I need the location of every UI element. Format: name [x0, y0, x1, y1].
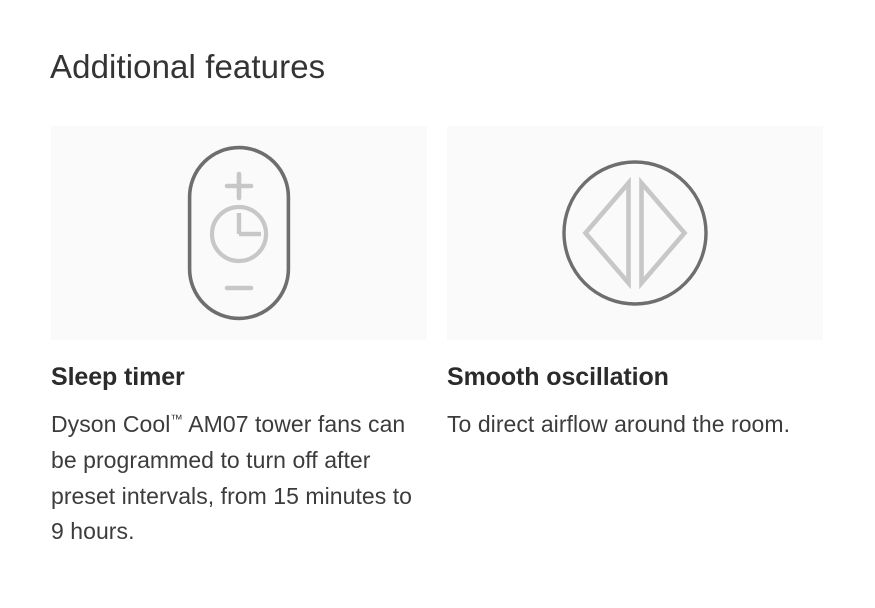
sleep-timer-icon — [187, 145, 291, 321]
features-grid: Sleep timer Dyson Cool™ AM07 tower fans … — [51, 126, 824, 550]
smooth-oscillation-icon — [561, 159, 709, 307]
feature-heading-smooth-oscillation: Smooth oscillation — [447, 362, 823, 393]
page-title: Additional features — [50, 47, 325, 87]
feature-body-sleep-timer: Dyson Cool™ AM07 tower fans can be progr… — [51, 407, 421, 550]
feature-image-smooth-oscillation — [447, 126, 823, 340]
feature-body-text-part-1: Dyson Cool — [51, 411, 170, 437]
trademark-symbol: ™ — [170, 413, 183, 427]
feature-body-smooth-oscillation: To direct airflow around the room. — [447, 407, 817, 443]
feature-heading-sleep-timer: Sleep timer — [51, 362, 427, 393]
additional-features-page: Additional features — [0, 0, 875, 608]
feature-card-sleep-timer: Sleep timer Dyson Cool™ AM07 tower fans … — [51, 126, 427, 550]
feature-card-smooth-oscillation: Smooth oscillation To direct airflow aro… — [447, 126, 823, 550]
feature-body-text-part-1: To direct airflow around the room. — [447, 411, 790, 437]
feature-image-sleep-timer — [51, 126, 427, 340]
